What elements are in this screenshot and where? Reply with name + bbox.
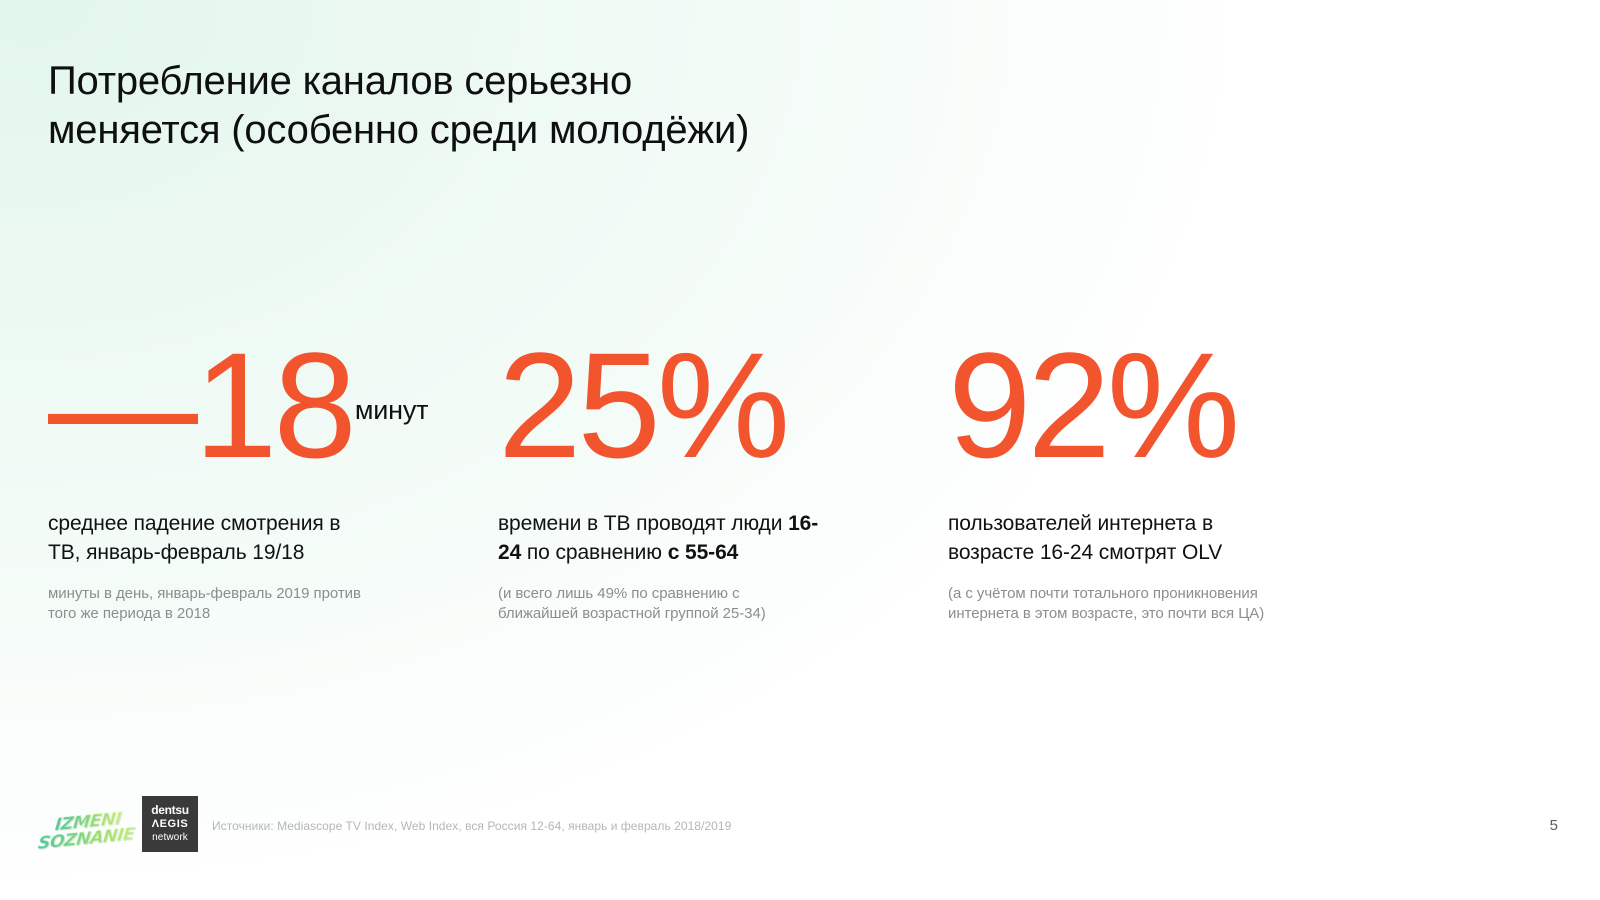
dentsu-logo-line1: dentsu [151,804,189,817]
slide-footer: IZMENI SOZNANIE dentsu ΛEGIS network Ист… [0,790,1600,900]
page-number: 5 [1550,817,1558,835]
stat-block-olv-reach: 92% пользователей интернета в возрасте 1… [948,330,1368,624]
stat-value: 25% [498,330,786,480]
stats-row: —18 минут среднее падение смотрения в ТВ… [0,330,1600,650]
stat-value: —18 [48,330,353,480]
izmeni-soznanie-logo-line2: SOZNANIE [37,826,135,853]
stat-note: (а с учётом почти тотального проникновен… [948,584,1288,625]
stat-block-tv-share: 25% времени в ТВ проводят люди 16-24 по … [498,330,918,624]
dentsu-logo-line2: ΛEGIS [152,818,189,831]
slide: Потребление каналов серьезно меняется (о… [0,0,1600,900]
stat-value: 92% [948,330,1236,480]
stat-caption: пользователей интернета в возрасте 16-24… [948,510,1268,568]
stat-caption: времени в ТВ проводят люди 16-24 по срав… [498,510,838,568]
stat-figure: 92% [948,330,1368,480]
dentsu-aegis-network-logo: dentsu ΛEGIS network [142,796,198,852]
dentsu-logo-line3: network [152,832,188,844]
izmeni-soznanie-logo: IZMENI SOZNANIE [45,804,129,858]
stat-note: минуты в день, январь-февраль 2019 проти… [48,584,373,625]
page-title: Потребление каналов серьезно меняется (о… [48,57,1048,155]
stat-figure: —18 минут [48,330,468,480]
stat-caption: среднее падение смотрения в ТВ, январь-ф… [48,510,378,568]
stat-unit: минут [355,397,428,424]
sources-note: Источники: Mediascope TV Index, Web Inde… [212,818,731,834]
stat-block-tv-drop: —18 минут среднее падение смотрения в ТВ… [48,330,468,624]
stat-figure: 25% [498,330,918,480]
stat-note: (и всего лишь 49% по сравнению с ближайш… [498,584,818,625]
